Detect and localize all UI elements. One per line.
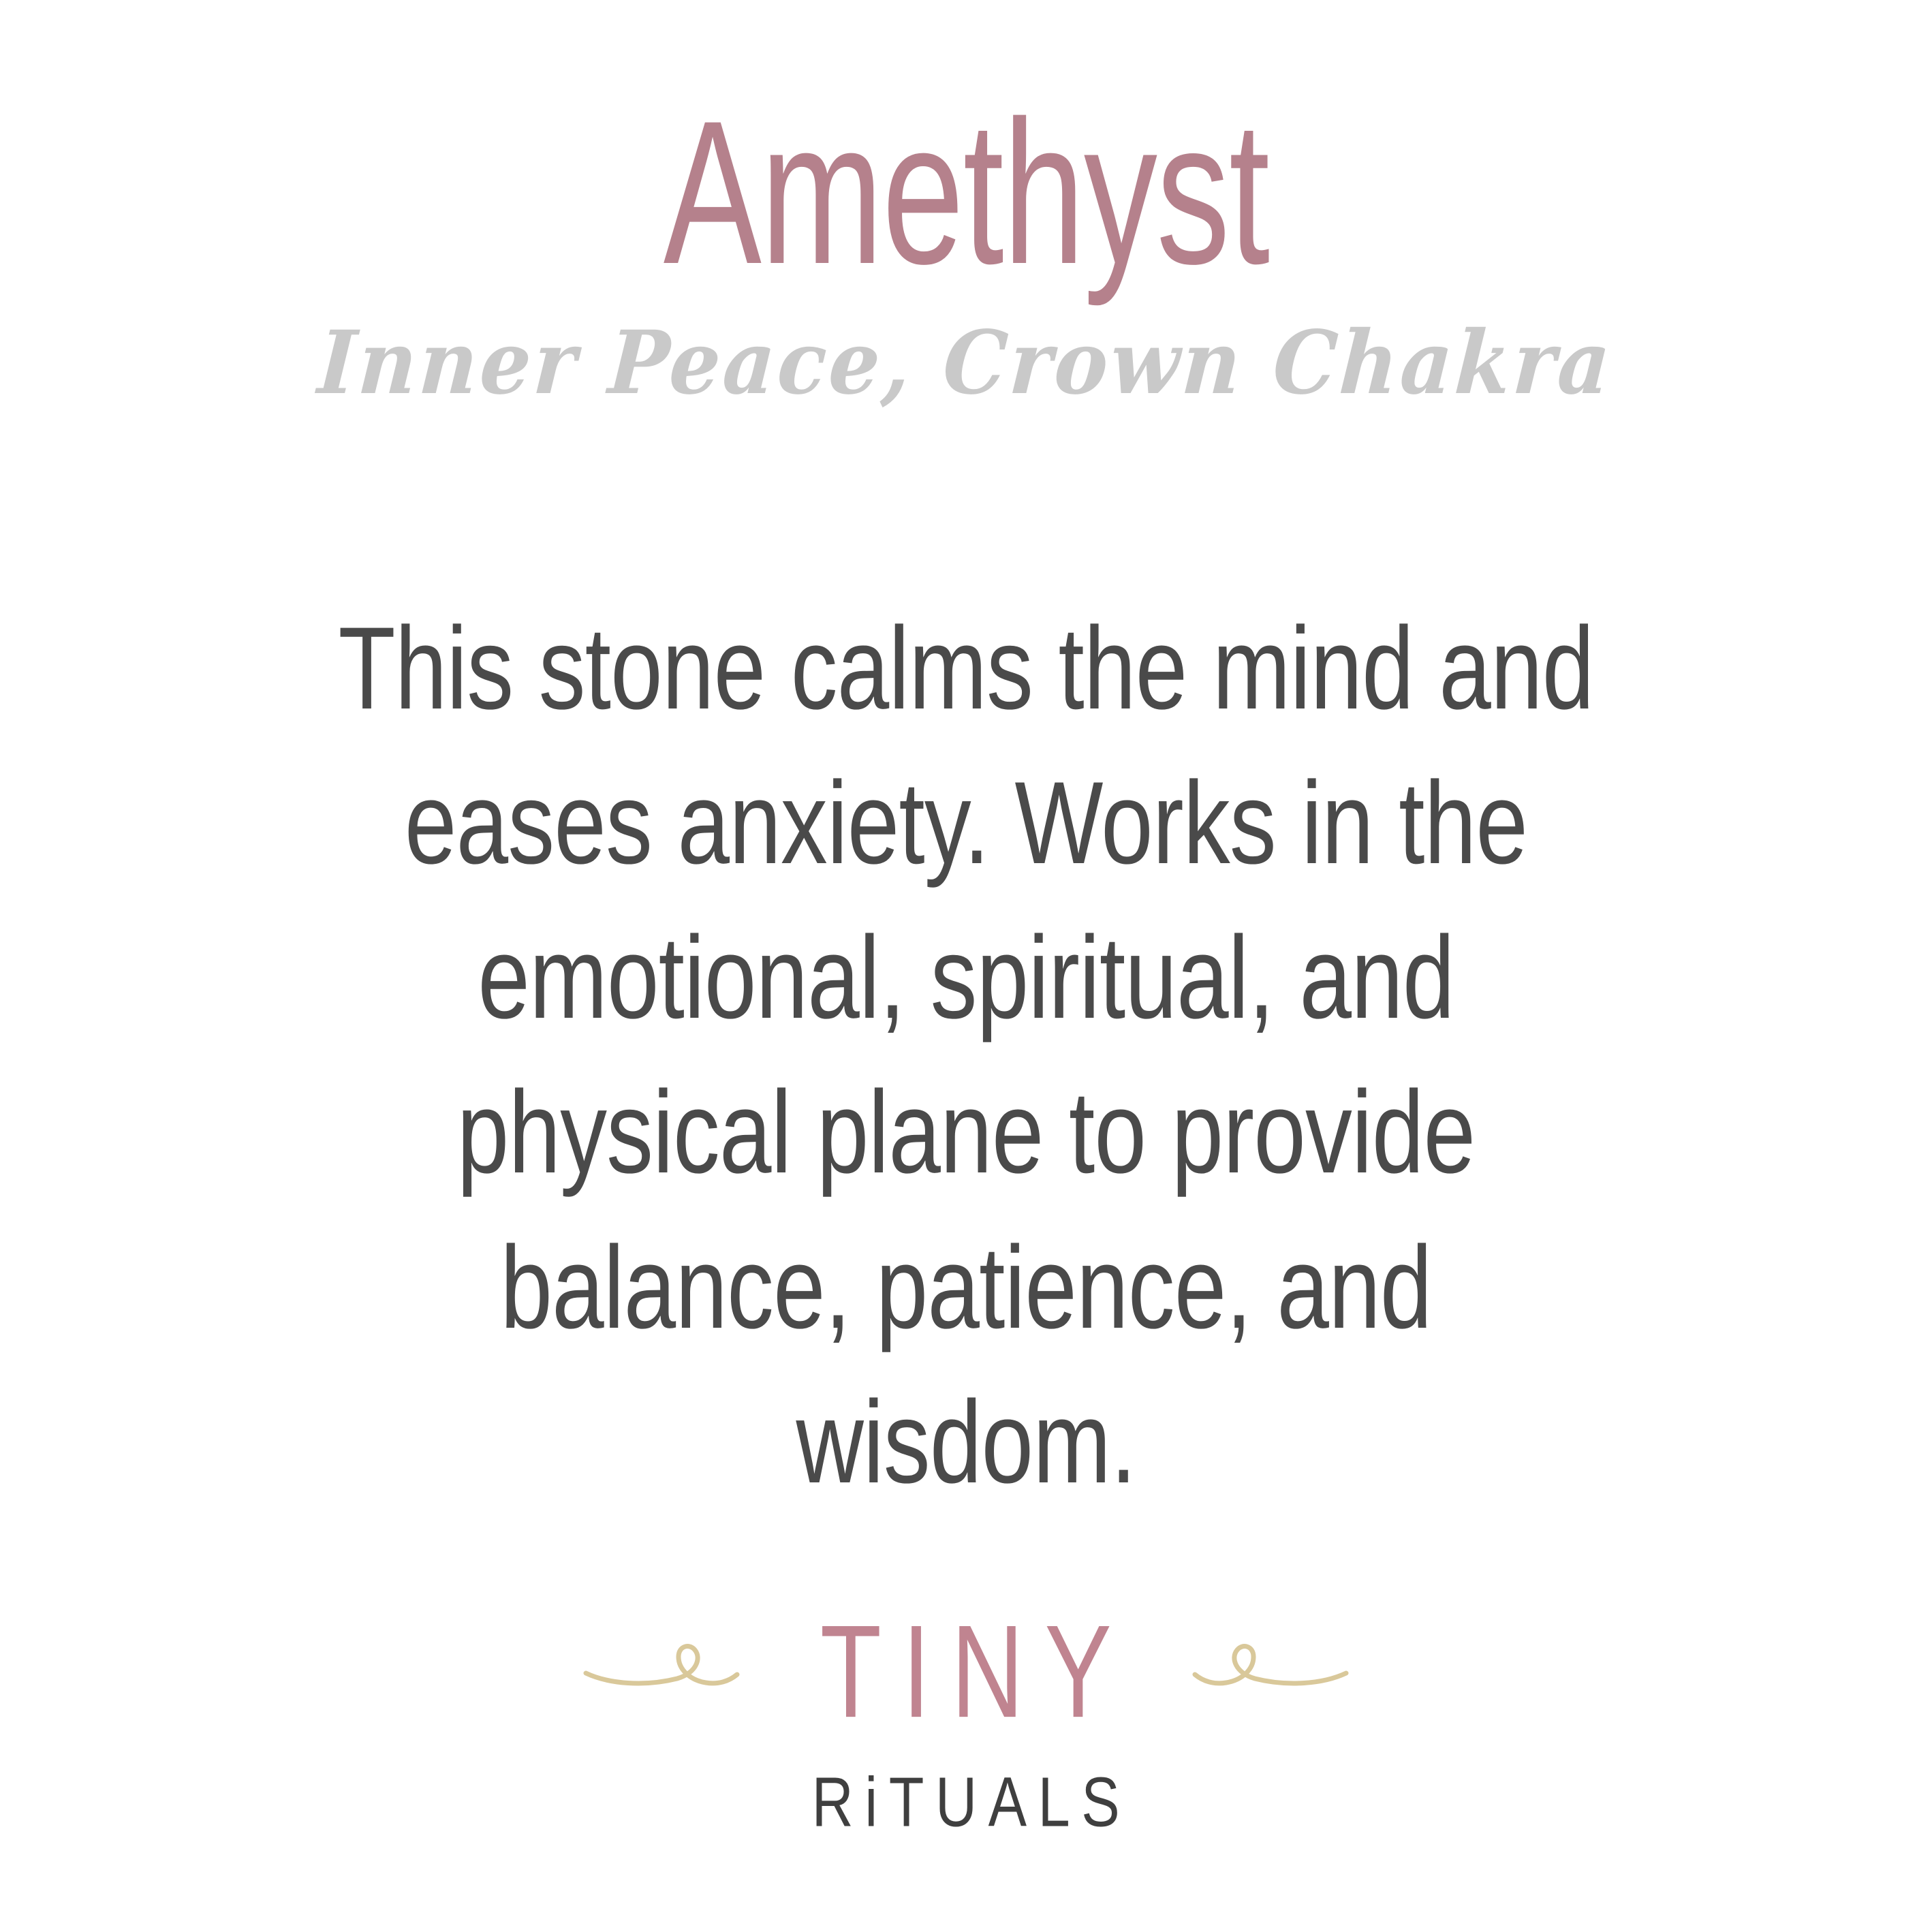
stone-subtitle: Inner Peace, Crown Chakra <box>315 294 1617 409</box>
stone-info-card: Amethyst Inner Peace, Crown Chakra This … <box>0 0 1932 1932</box>
left-swash-flourish-icon <box>582 1631 752 1713</box>
page-title: Amethyst <box>664 0 1269 294</box>
stone-description: This stone calms the mind and eases anxi… <box>334 409 1598 1519</box>
right-swash-flourish-icon <box>1180 1631 1350 1713</box>
brand-name: TINY <box>799 1606 1132 1738</box>
brand-tagline: RiTUALS <box>800 1767 1131 1837</box>
brand-lockup: TINY RiTUALS <box>0 1616 1932 1834</box>
brand-wordmark-row: TINY <box>582 1616 1350 1728</box>
